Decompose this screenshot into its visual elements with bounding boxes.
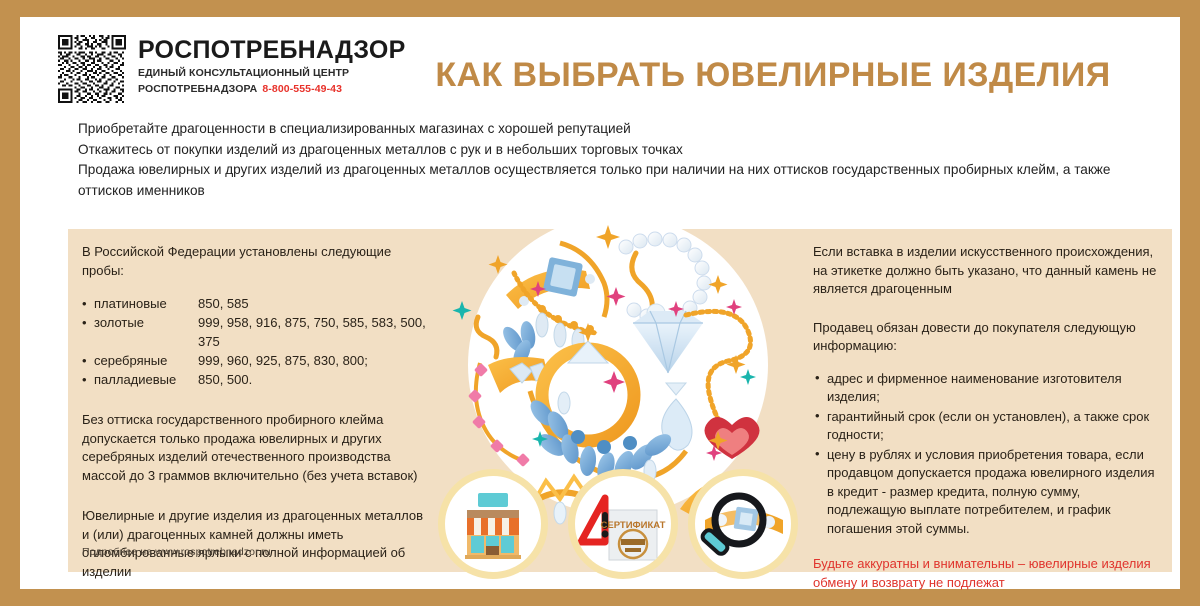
list-item: • серебряные 999, 960, 925, 875, 830, 80…: [82, 351, 432, 370]
qr-code-icon: [58, 35, 126, 103]
seller-duties-list: адрес и фирменное наименование изготовит…: [813, 370, 1163, 539]
left-paragraph-2: Без оттиска государственного пробирного …: [82, 411, 432, 485]
right-column: Если вставка в изделии искусственного пр…: [813, 243, 1163, 592]
bullet-icon: •: [82, 313, 94, 351]
left-column: В Российской Федерации установлены следу…: [82, 243, 432, 595]
metal-name: серебряные: [94, 351, 198, 370]
right-paragraph-2: Продавец обязан довести до покупателя сл…: [813, 319, 1163, 356]
logo-text-block: РОСПОТРЕБНАДЗОР ЕДИНЫЙ КОНСУЛЬТАЦИОННЫЙ …: [138, 35, 405, 96]
list-item: цену в рублях и условия приобретения тов…: [813, 446, 1163, 539]
metal-name: золотые: [94, 313, 198, 351]
poster-sheet: РОСПОТРЕБНАДЗОР ЕДИНЫЙ КОНСУЛЬТАЦИОННЫЙ …: [20, 17, 1180, 589]
left-paragraph-3: Ювелирные и другие изделия из драгоценны…: [82, 507, 432, 581]
shop-icon: [438, 469, 548, 579]
metal-values: 999, 960, 925, 875, 830, 800;: [198, 351, 432, 370]
warning-line-1: Будьте аккуратны и внимательны – ювелирн…: [813, 554, 1163, 573]
list-item: • платиновые 850, 585: [82, 294, 432, 313]
list-item: • палладиевые 850, 500.: [82, 370, 432, 389]
metal-name: платиновые: [94, 294, 198, 313]
poster-background: РОСПОТРЕБНАДЗОР ЕДИНЫЙ КОНСУЛЬТАЦИОННЫЙ …: [0, 0, 1200, 606]
metal-values: 850, 500.: [198, 370, 432, 389]
page-title: КАК ВЫБРАТЬ ЮВЕЛИРНЫЕ ИЗДЕЛИЯ: [388, 55, 1158, 95]
hotline-phone-number: 8-800-555-49-43: [262, 83, 342, 95]
list-item: • золотые 999, 958, 916, 875, 750, 585, …: [82, 313, 432, 351]
warning-line-2: обмену и возврату не подлежат: [813, 573, 1163, 592]
poster-header: РОСПОТРЕБНАДЗОР ЕДИНЫЙ КОНСУЛЬТАЦИОННЫЙ …: [40, 33, 1160, 111]
purity-standards-list: • платиновые 850, 585 • золотые 999, 958…: [82, 294, 432, 389]
org-subtitle-line2: РОСПОТРЕБНАДЗОРА8-800-555-49-43: [138, 83, 405, 96]
list-item: гарантийный срок (если он установлен), а…: [813, 408, 1163, 445]
right-paragraph-1: Если вставка в изделии искусственного пр…: [813, 243, 1163, 299]
bullet-icon: •: [82, 351, 94, 370]
org-name: РОСПОТРЕБНАДЗОР: [138, 37, 405, 64]
certificate-warning-icon: СЕРТИФИКАТ: [568, 469, 678, 579]
org-subtitle-text: РОСПОТРЕБНАДЗОРА: [138, 83, 257, 95]
intro-line-1: Приобретайте драгоценности в специализир…: [78, 119, 1168, 140]
rospotrebnadzor-logo-block: РОСПОТРЕБНАДЗОР ЕДИНЫЙ КОНСУЛЬТАЦИОННЫЙ …: [58, 35, 405, 103]
warning-notice: Будьте аккуратны и внимательны – ювелирн…: [813, 554, 1163, 592]
shop-signboard: [478, 493, 508, 507]
bullet-icon: •: [82, 370, 94, 389]
intro-line-2: Откажитесь от покупки изделий из драгоце…: [78, 140, 1168, 161]
probes-heading: В Российской Федерации установлены следу…: [82, 243, 432, 280]
magnifier-icon: [688, 469, 798, 579]
metal-values: 999, 958, 916, 875, 750, 585, 583, 500, …: [198, 313, 432, 351]
certificate-document-icon: СЕРТИФИКАТ: [601, 510, 666, 560]
list-item: адрес и фирменное наименование изготовит…: [813, 370, 1163, 407]
website-link[interactable]: Подробнее на www.rospotrebnadzor.ru: [82, 546, 271, 558]
metal-values: 850, 585: [198, 294, 432, 313]
intro-line-3: Продажа ювелирных и других изделий из др…: [78, 160, 1168, 201]
metal-name: палладиевые: [94, 370, 198, 389]
org-subtitle-line1: ЕДИНЫЙ КОНСУЛЬТАЦИОННЫЙ ЦЕНТР: [138, 67, 405, 80]
intro-block: Приобретайте драгоценности в специализир…: [78, 119, 1168, 201]
bullet-icon: •: [82, 294, 94, 313]
